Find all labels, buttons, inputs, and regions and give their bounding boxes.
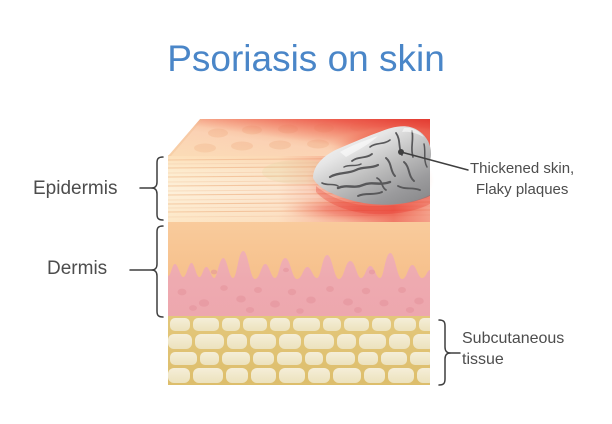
label-thickened-skin: Thickened skin, Flaky plaques bbox=[470, 158, 574, 200]
dermis-layer bbox=[168, 222, 430, 316]
dermis-bracket bbox=[152, 226, 163, 317]
label-epidermis: Epidermis bbox=[33, 178, 117, 200]
plaque-leader-dot bbox=[398, 149, 404, 155]
subcutaneous-bracket bbox=[439, 320, 450, 385]
page-title: Psoriasis on skin bbox=[0, 38, 612, 80]
epidermis-bracket bbox=[152, 157, 163, 220]
label-subcutaneous-tissue: Subcutaneous tissue bbox=[462, 328, 564, 370]
illustration-canvas: Psoriasis on skin Epidermis Dermis Thick… bbox=[0, 0, 612, 424]
subcutaneous-fat-layer bbox=[168, 316, 435, 385]
label-dermis: Dermis bbox=[47, 258, 107, 280]
